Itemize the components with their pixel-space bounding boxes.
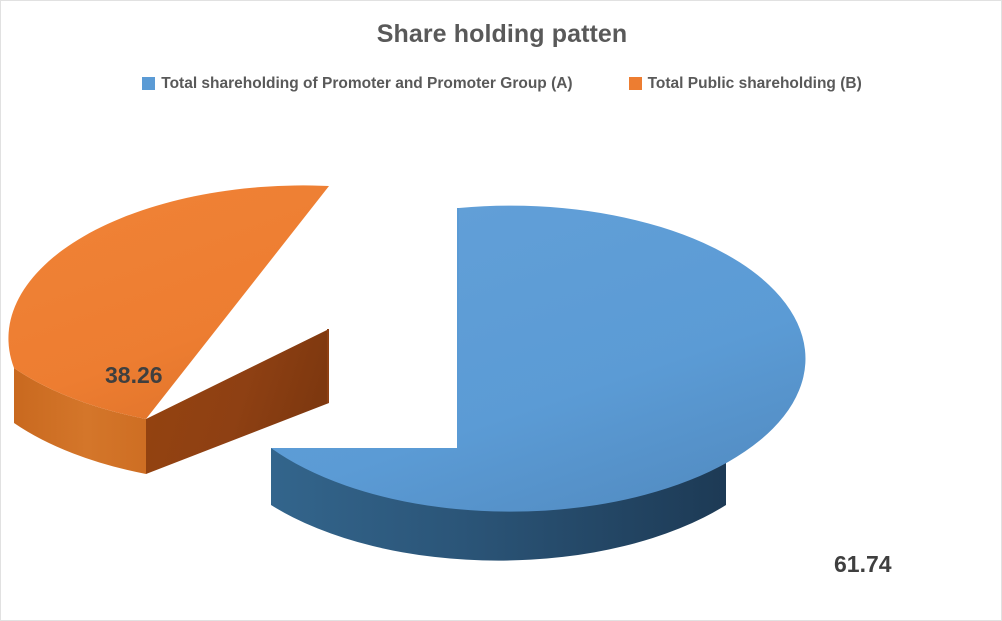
- legend-item-promoter[interactable]: Total shareholding of Promoter and Promo…: [142, 75, 572, 92]
- pie-chart-figure: Share holding patten Total shareholding …: [0, 0, 1002, 621]
- pie-slice-public-right-wall: [327, 329, 329, 403]
- chart-title: Share holding patten: [1, 19, 1002, 49]
- legend-item-public[interactable]: Total Public shareholding (B): [629, 75, 862, 92]
- legend-label-public: Total Public shareholding (B): [648, 75, 862, 92]
- pie-slice-promoter-inner-wall: [457, 208, 459, 448]
- chart-legend: Total shareholding of Promoter and Promo…: [1, 75, 1002, 92]
- data-label-promoter: 61.74: [834, 551, 892, 577]
- pie-slice-public[interactable]: [8, 185, 329, 474]
- data-label-public: 38.26: [105, 362, 163, 388]
- legend-swatch-blue-icon: [142, 77, 155, 90]
- plot-area: 61.74 38.26: [1, 111, 1002, 616]
- legend-swatch-orange-icon: [629, 77, 642, 90]
- pie-slice-promoter[interactable]: [271, 206, 805, 561]
- legend-label-promoter: Total shareholding of Promoter and Promo…: [161, 75, 572, 92]
- pie-slice-promoter-left-wall: [271, 448, 273, 505]
